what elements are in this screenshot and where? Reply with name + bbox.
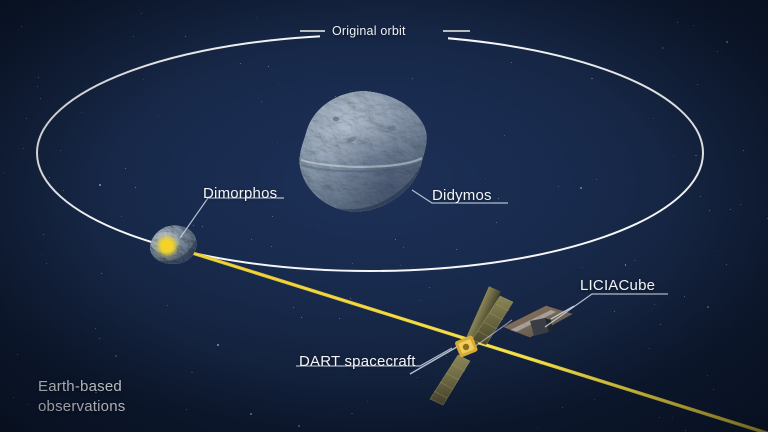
liciacube-leader [545,294,668,327]
dimorphos-leader [180,198,284,238]
scene-graphics [0,0,768,432]
dimorphos-moonlet [150,226,196,264]
dart-mission-diagram: Original orbit Dimorphos Didymos LICIACu… [0,0,768,432]
dart-spacecraft [410,283,517,405]
didymos-leader [412,190,508,203]
liciacube-cubesat [504,306,574,337]
leader-lines [180,190,668,366]
didymos-asteroid [300,91,427,211]
